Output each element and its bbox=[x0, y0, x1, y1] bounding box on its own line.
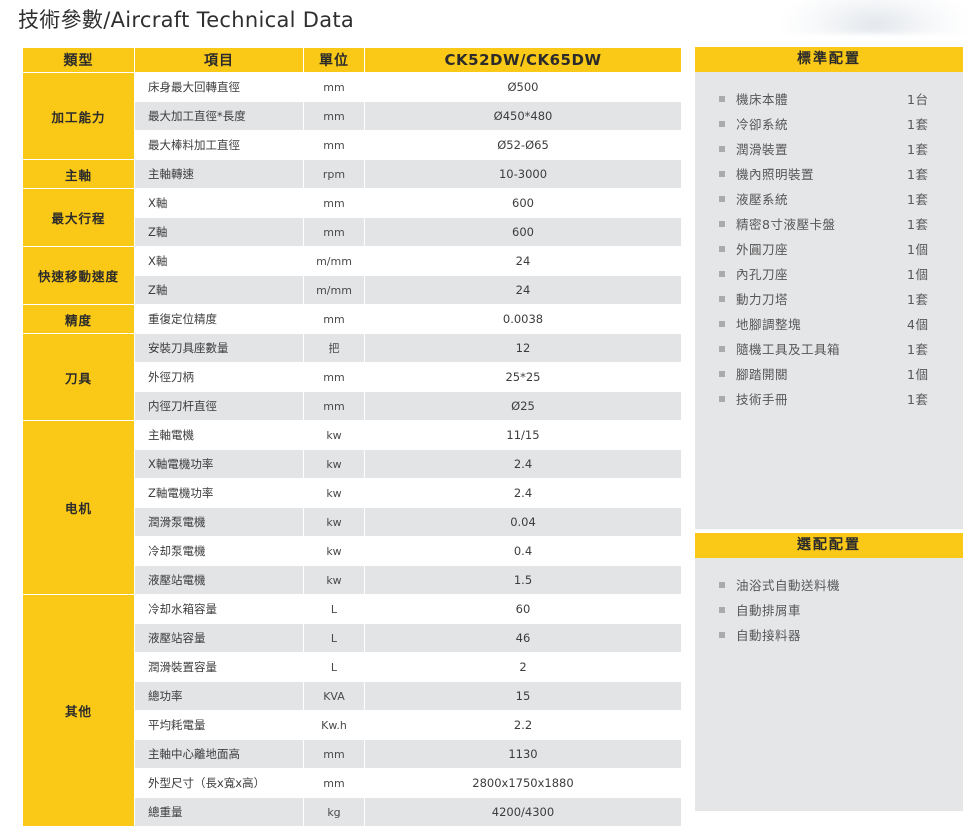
config-item-quantity: 1套 bbox=[907, 164, 941, 183]
config-item-label: 機床本體 bbox=[736, 89, 907, 108]
column-header-type: 類型 bbox=[23, 48, 134, 72]
square-bullet-icon bbox=[719, 96, 725, 102]
value-cell: 11/15 bbox=[365, 421, 681, 449]
config-item-quantity: 1套 bbox=[907, 389, 941, 408]
category-cell: 加工能力 bbox=[23, 73, 134, 159]
config-item-quantity: 1套 bbox=[907, 289, 941, 308]
item-cell: 主軸中心離地面高 bbox=[135, 740, 303, 768]
square-bullet-icon bbox=[719, 221, 725, 227]
unit-cell: mm bbox=[304, 189, 364, 217]
config-item-label: 自動排屑車 bbox=[736, 600, 907, 619]
value-cell: 2.4 bbox=[365, 479, 681, 507]
config-item-quantity: 1套 bbox=[907, 189, 941, 208]
unit-cell: kw bbox=[304, 537, 364, 565]
item-cell: 主軸電機 bbox=[135, 421, 303, 449]
item-cell: 冷却泵電機 bbox=[135, 537, 303, 565]
config-list-item: 機內照明裝置1套 bbox=[695, 161, 963, 186]
unit-cell: mm bbox=[304, 305, 364, 333]
item-cell: 重復定位精度 bbox=[135, 305, 303, 333]
item-cell: 主軸轉速 bbox=[135, 160, 303, 188]
config-list-item: 隨機工具及工具箱1套 bbox=[695, 336, 963, 361]
config-item-label: 潤滑裝置 bbox=[736, 139, 907, 158]
config-item-label: 地腳調整塊 bbox=[736, 314, 907, 333]
config-item-quantity: 1個 bbox=[907, 239, 941, 258]
square-bullet-icon bbox=[719, 196, 725, 202]
value-cell: 24 bbox=[365, 247, 681, 275]
optional-config-list: 油浴式自動送料機自動排屑車自動接料器 bbox=[695, 558, 963, 647]
unit-cell: kw bbox=[304, 450, 364, 478]
value-cell: 15 bbox=[365, 682, 681, 710]
config-item-quantity: 1個 bbox=[907, 364, 941, 383]
unit-cell: kw bbox=[304, 479, 364, 507]
unit-cell: rpm bbox=[304, 160, 364, 188]
value-cell: 46 bbox=[365, 624, 681, 652]
unit-cell: mm bbox=[304, 392, 364, 420]
table-header-row: 類型 項目 單位 CK52DW/CK65DW bbox=[23, 48, 681, 72]
category-cell: 快速移動速度 bbox=[23, 247, 134, 304]
config-item-label: 腳踏開關 bbox=[736, 364, 907, 383]
value-cell: 0.0038 bbox=[365, 305, 681, 333]
square-bullet-icon bbox=[719, 121, 725, 127]
value-cell: 60 bbox=[365, 595, 681, 623]
config-item-label: 精密8寸液壓卡盤 bbox=[736, 214, 907, 233]
table-body: 加工能力床身最大回轉直徑mmØ500最大加工直徑*長度mmØ450*480最大棒… bbox=[23, 73, 681, 826]
value-cell: 2.2 bbox=[365, 711, 681, 739]
column-header-item: 項目 bbox=[135, 48, 303, 72]
value-cell: 600 bbox=[365, 218, 681, 246]
item-cell: Z軸電機功率 bbox=[135, 479, 303, 507]
unit-cell: mm bbox=[304, 363, 364, 391]
config-item-quantity: 1台 bbox=[907, 89, 941, 108]
square-bullet-icon bbox=[719, 371, 725, 377]
item-cell: 外徑刀柄 bbox=[135, 363, 303, 391]
square-bullet-icon bbox=[719, 632, 725, 638]
item-cell: 安裝刀具座數量 bbox=[135, 334, 303, 362]
config-list-item: 冷卻系統1套 bbox=[695, 111, 963, 136]
value-cell: 2 bbox=[365, 653, 681, 681]
value-cell: 2.4 bbox=[365, 450, 681, 478]
config-list-item: 潤滑裝置1套 bbox=[695, 136, 963, 161]
value-cell: 0.04 bbox=[365, 508, 681, 536]
value-cell: 12 bbox=[365, 334, 681, 362]
item-cell: 總重量 bbox=[135, 798, 303, 826]
value-cell: 25*25 bbox=[365, 363, 681, 391]
item-cell: X軸電機功率 bbox=[135, 450, 303, 478]
item-cell: X軸 bbox=[135, 247, 303, 275]
square-bullet-icon bbox=[719, 346, 725, 352]
config-item-label: 隨機工具及工具箱 bbox=[736, 339, 907, 358]
column-header-unit: 單位 bbox=[304, 48, 364, 72]
unit-cell: mm bbox=[304, 769, 364, 797]
unit-cell: Kw.h bbox=[304, 711, 364, 739]
config-item-label: 技術手冊 bbox=[736, 389, 907, 408]
square-bullet-icon bbox=[719, 171, 725, 177]
technical-data-table: 類型 項目 單位 CK52DW/CK65DW 加工能力床身最大回轉直徑mmØ50… bbox=[22, 47, 682, 827]
config-item-label: 內孔刀座 bbox=[736, 264, 907, 283]
unit-cell: KVA bbox=[304, 682, 364, 710]
config-list-item: 液壓系統1套 bbox=[695, 186, 963, 211]
config-list-item: 地腳調整塊4個 bbox=[695, 311, 963, 336]
unit-cell: kw bbox=[304, 421, 364, 449]
square-bullet-icon bbox=[719, 396, 725, 402]
standard-config-panel: 標準配置 機床本體1台冷卻系統1套潤滑裝置1套機內照明裝置1套液壓系統1套精密8… bbox=[695, 47, 963, 529]
table-row: 主軸主軸轉速rpm10-3000 bbox=[23, 160, 681, 188]
config-item-quantity: 1套 bbox=[907, 214, 941, 233]
config-list-item: 腳踏開關1個 bbox=[695, 361, 963, 386]
item-cell: Z軸 bbox=[135, 276, 303, 304]
config-item-label: 自動接料器 bbox=[736, 625, 907, 644]
unit-cell: kw bbox=[304, 566, 364, 594]
config-item-quantity: 1套 bbox=[907, 139, 941, 158]
unit-cell: mm bbox=[304, 131, 364, 159]
config-list-item: 自動排屑車 bbox=[695, 597, 963, 622]
category-cell: 精度 bbox=[23, 305, 134, 333]
square-bullet-icon bbox=[719, 146, 725, 152]
decorative-watermark bbox=[780, 0, 970, 34]
column-header-value: CK52DW/CK65DW bbox=[365, 48, 681, 72]
item-cell: 潤滑裝置容量 bbox=[135, 653, 303, 681]
config-item-label: 動力刀塔 bbox=[736, 289, 907, 308]
config-item-label: 油浴式自動送料機 bbox=[736, 575, 907, 594]
item-cell: 床身最大回轉直徑 bbox=[135, 73, 303, 101]
item-cell: 總功率 bbox=[135, 682, 303, 710]
unit-cell: mm bbox=[304, 102, 364, 130]
unit-cell: L bbox=[304, 595, 364, 623]
unit-cell: 把 bbox=[304, 334, 364, 362]
item-cell: Z軸 bbox=[135, 218, 303, 246]
value-cell: 2800x1750x1880 bbox=[365, 769, 681, 797]
value-cell: Ø500 bbox=[365, 73, 681, 101]
config-item-label: 外圓刀座 bbox=[736, 239, 907, 258]
category-cell: 电机 bbox=[23, 421, 134, 594]
value-cell: 600 bbox=[365, 189, 681, 217]
item-cell: 液壓站電機 bbox=[135, 566, 303, 594]
table-row: 最大行程X軸mm600 bbox=[23, 189, 681, 217]
value-cell: 0.4 bbox=[365, 537, 681, 565]
config-list-item: 機床本體1台 bbox=[695, 86, 963, 111]
category-cell: 主軸 bbox=[23, 160, 134, 188]
spec-sheet-page: 技術參數/Aircraft Technical Data 類型 項目 單位 CK… bbox=[0, 0, 980, 826]
value-cell: 1.5 bbox=[365, 566, 681, 594]
config-item-quantity: 1個 bbox=[907, 264, 941, 283]
table-row: 加工能力床身最大回轉直徑mmØ500 bbox=[23, 73, 681, 101]
unit-cell: kw bbox=[304, 508, 364, 536]
table-row: 快速移動速度X軸m/mm24 bbox=[23, 247, 681, 275]
item-cell: 最大加工直徑*長度 bbox=[135, 102, 303, 130]
item-cell: 冷却水箱容量 bbox=[135, 595, 303, 623]
item-cell: X軸 bbox=[135, 189, 303, 217]
config-list-item: 精密8寸液壓卡盤1套 bbox=[695, 211, 963, 236]
table-header: 類型 項目 單位 CK52DW/CK65DW bbox=[23, 48, 681, 72]
unit-cell: mm bbox=[304, 73, 364, 101]
optional-config-heading: 選配配置 bbox=[695, 533, 963, 558]
category-cell: 最大行程 bbox=[23, 189, 134, 246]
config-list-item: 自動接料器 bbox=[695, 622, 963, 647]
config-item-quantity: 1套 bbox=[907, 114, 941, 133]
standard-config-list: 機床本體1台冷卻系統1套潤滑裝置1套機內照明裝置1套液壓系統1套精密8寸液壓卡盤… bbox=[695, 72, 963, 411]
square-bullet-icon bbox=[719, 321, 725, 327]
value-cell: Ø450*480 bbox=[365, 102, 681, 130]
unit-cell: mm bbox=[304, 740, 364, 768]
config-item-quantity: 1套 bbox=[907, 339, 941, 358]
config-list-item: 技術手冊1套 bbox=[695, 386, 963, 411]
value-cell: 10-3000 bbox=[365, 160, 681, 188]
unit-cell: m/mm bbox=[304, 276, 364, 304]
item-cell: 液壓站容量 bbox=[135, 624, 303, 652]
config-item-label: 冷卻系統 bbox=[736, 114, 907, 133]
config-list-item: 油浴式自動送料機 bbox=[695, 572, 963, 597]
item-cell: 内徑刀杆直徑 bbox=[135, 392, 303, 420]
square-bullet-icon bbox=[719, 246, 725, 252]
config-item-label: 液壓系統 bbox=[736, 189, 907, 208]
value-cell: 24 bbox=[365, 276, 681, 304]
category-cell: 刀具 bbox=[23, 334, 134, 420]
table-row: 刀具安裝刀具座數量把12 bbox=[23, 334, 681, 362]
table-row: 电机主軸電機kw11/15 bbox=[23, 421, 681, 449]
config-list-item: 內孔刀座1個 bbox=[695, 261, 963, 286]
square-bullet-icon bbox=[719, 582, 725, 588]
item-cell: 外型尺寸（長x寬x高） bbox=[135, 769, 303, 797]
value-cell: 4200/4300 bbox=[365, 798, 681, 826]
standard-config-heading: 標準配置 bbox=[695, 47, 963, 72]
optional-config-panel: 選配配置 油浴式自動送料機自動排屑車自動接料器 bbox=[695, 533, 963, 811]
category-cell: 其他 bbox=[23, 595, 134, 826]
config-item-label: 機內照明裝置 bbox=[736, 164, 907, 183]
item-cell: 最大棒料加工直徑 bbox=[135, 131, 303, 159]
value-cell: Ø52-Ø65 bbox=[365, 131, 681, 159]
value-cell: 1130 bbox=[365, 740, 681, 768]
item-cell: 平均耗電量 bbox=[135, 711, 303, 739]
unit-cell: L bbox=[304, 653, 364, 681]
table-row: 精度重復定位精度mm0.0038 bbox=[23, 305, 681, 333]
table-row: 其他冷却水箱容量L60 bbox=[23, 595, 681, 623]
item-cell: 潤滑泵電機 bbox=[135, 508, 303, 536]
square-bullet-icon bbox=[719, 607, 725, 613]
config-list-item: 外圓刀座1個 bbox=[695, 236, 963, 261]
square-bullet-icon bbox=[719, 296, 725, 302]
value-cell: Ø25 bbox=[365, 392, 681, 420]
unit-cell: L bbox=[304, 624, 364, 652]
unit-cell: kg bbox=[304, 798, 364, 826]
config-list-item: 動力刀塔1套 bbox=[695, 286, 963, 311]
page-title: 技術參數/Aircraft Technical Data bbox=[18, 4, 354, 34]
unit-cell: m/mm bbox=[304, 247, 364, 275]
square-bullet-icon bbox=[719, 271, 725, 277]
unit-cell: mm bbox=[304, 218, 364, 246]
config-item-quantity: 4個 bbox=[907, 314, 941, 333]
